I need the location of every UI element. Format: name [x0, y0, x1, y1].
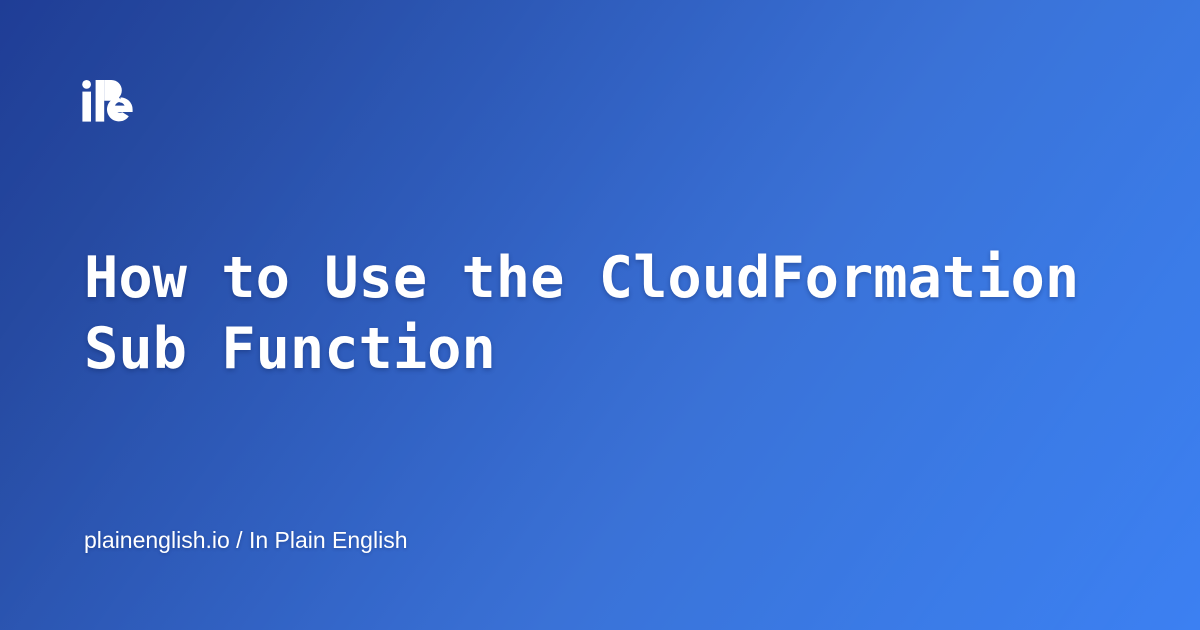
share-card: How to Use the CloudFormation Sub Functi…: [0, 0, 1200, 630]
byline: plainenglish.io / In Plain English: [84, 525, 407, 555]
card-content: How to Use the CloudFormation Sub Functi…: [0, 0, 1200, 630]
page-title: How to Use the CloudFormation Sub Functi…: [84, 243, 1130, 385]
ipe-logo-icon[interactable]: [82, 80, 134, 122]
